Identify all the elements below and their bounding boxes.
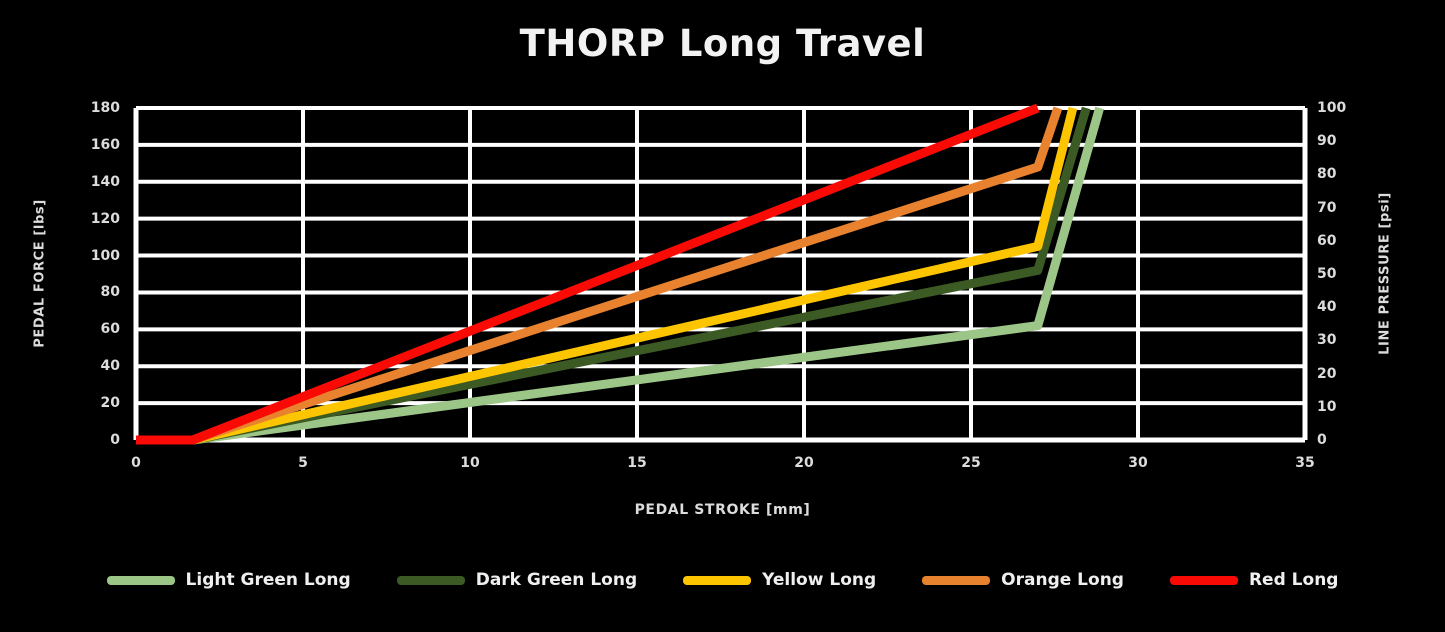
legend-color-swatch (1170, 576, 1238, 585)
x-axis-tick-label: 25 (961, 455, 980, 471)
y-axis-left-tick-label: 80 (101, 284, 120, 300)
y-axis-left-tick-label: 0 (110, 432, 120, 448)
x-axis-tick-label: 20 (794, 455, 813, 471)
x-axis-tick-label: 35 (1295, 455, 1314, 471)
y-axis-right-tick-label: 90 (1317, 133, 1336, 149)
chart-container: THORP Long Travel 0204060801001201401601… (0, 0, 1445, 632)
x-axis-tick-label: 0 (131, 455, 141, 471)
y-axis-right-tick-label: 70 (1317, 200, 1336, 216)
y-axis-right-tick-label: 30 (1317, 332, 1336, 348)
legend-item-label: Yellow Long (762, 570, 876, 590)
y-axis-left-tick-label: 60 (101, 321, 120, 337)
y-axis-left-title: PEDAL FORCE [lbs] (33, 174, 48, 374)
x-axis-ticks: 05101520253035 (136, 455, 1305, 479)
y-axis-right-tick-label: 80 (1317, 166, 1336, 182)
series-lines (136, 108, 1305, 440)
y-axis-left-tick-label: 160 (91, 137, 120, 153)
y-axis-left-tick-label: 120 (91, 211, 120, 227)
legend-color-swatch (922, 576, 990, 585)
y-axis-left-tick-label: 20 (101, 395, 120, 411)
y-axis-right-tick-label: 50 (1317, 266, 1336, 282)
legend-item-label: Red Long (1249, 570, 1339, 590)
chart-title: THORP Long Travel (0, 22, 1445, 65)
y-axis-right-tick-label: 40 (1317, 299, 1336, 315)
x-axis-tick-label: 10 (460, 455, 479, 471)
y-axis-left-ticks: 020406080100120140160180 (68, 108, 120, 440)
y-axis-right-title: LINE PRESSURE [psi] (1378, 174, 1393, 374)
plot-area (136, 108, 1305, 440)
y-axis-right-tick-label: 10 (1317, 399, 1336, 415)
legend-item[interactable]: Red Long (1170, 570, 1339, 590)
legend-color-swatch (107, 576, 175, 585)
legend-item-label: Orange Long (1001, 570, 1124, 590)
y-axis-right-tick-label: 60 (1317, 233, 1336, 249)
x-axis-tick-label: 15 (627, 455, 646, 471)
x-axis-tick-label: 30 (1128, 455, 1147, 471)
legend-item-label: Light Green Long (186, 570, 351, 590)
y-axis-right-tick-label: 20 (1317, 366, 1336, 382)
y-axis-right-ticks: 0102030405060708090100 (1317, 108, 1377, 440)
legend-color-swatch (397, 576, 465, 585)
y-axis-left-tick-label: 40 (101, 358, 120, 374)
chart-legend: Light Green LongDark Green LongYellow Lo… (0, 570, 1445, 590)
legend-item[interactable]: Orange Long (922, 570, 1124, 590)
x-axis-tick-label: 5 (298, 455, 308, 471)
legend-item[interactable]: Yellow Long (683, 570, 876, 590)
y-axis-right-tick-label: 0 (1317, 432, 1327, 448)
legend-item[interactable]: Light Green Long (107, 570, 351, 590)
legend-item[interactable]: Dark Green Long (397, 570, 637, 590)
y-axis-right-tick-label: 100 (1317, 100, 1346, 116)
y-axis-left-tick-label: 140 (91, 174, 120, 190)
y-axis-left-tick-label: 180 (91, 100, 120, 116)
legend-color-swatch (683, 576, 751, 585)
y-axis-left-tick-label: 100 (91, 248, 120, 264)
x-axis-title: PEDAL STROKE [mm] (0, 502, 1445, 518)
legend-item-label: Dark Green Long (476, 570, 637, 590)
